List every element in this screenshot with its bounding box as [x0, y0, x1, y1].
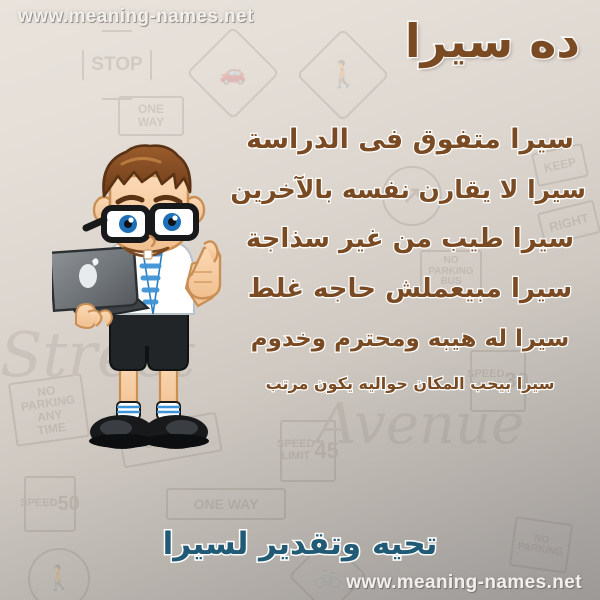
sign-pedestrian-crossing: 🚶 [296, 28, 389, 121]
thumbs-up-hand [186, 241, 220, 306]
sign-speed-50: SPEED50 [24, 476, 76, 532]
trait-line: سيرا طيب من غير سذاجة [234, 224, 586, 254]
trait-line: سيرا لا يقارن نفسه بالآخرين [234, 175, 586, 204]
sign-one-way-bottom: ONE WAY [166, 488, 286, 520]
background-script-avenue: Avenue [316, 392, 524, 457]
page-title: ده سيرا [405, 14, 580, 68]
gray-laptop [52, 247, 148, 320]
sign-slippery-road: 🚗 [186, 26, 279, 119]
sign-stop: STOP [82, 30, 152, 100]
trait-line: سيرا بيحب المكان حواليه يكون مرتب [234, 374, 586, 393]
closing-greeting: تحيه وتقدير لسيرا [0, 526, 600, 562]
trait-line: سيرا له هيبه ومحترم وخدوم [234, 326, 586, 352]
sign-one-way-top: ONEWAY [118, 96, 184, 136]
sign-speed-limit-45: SPEEDLIMIT45 [280, 420, 336, 482]
black-shoes [89, 415, 209, 449]
trait-list: سيرا متفوق فى الدراسة سيرا لا يقارن نفسه… [234, 124, 586, 393]
trait-line: سيرا متفوق فى الدراسة [234, 124, 586, 155]
name-meaning-card: STOP ONEWAY 🚶 🚗 KEEP RIGHT ↗ NO PARKINGB… [0, 0, 600, 600]
trait-line: سيرا مبيعملش حاجه غلط [234, 274, 586, 304]
black-nerd-glasses [86, 206, 196, 240]
watermark-top: www.meaning-names.net [18, 6, 254, 28]
black-shorts [110, 308, 188, 370]
watermark-bottom: www.meaning-names.net [346, 572, 582, 594]
